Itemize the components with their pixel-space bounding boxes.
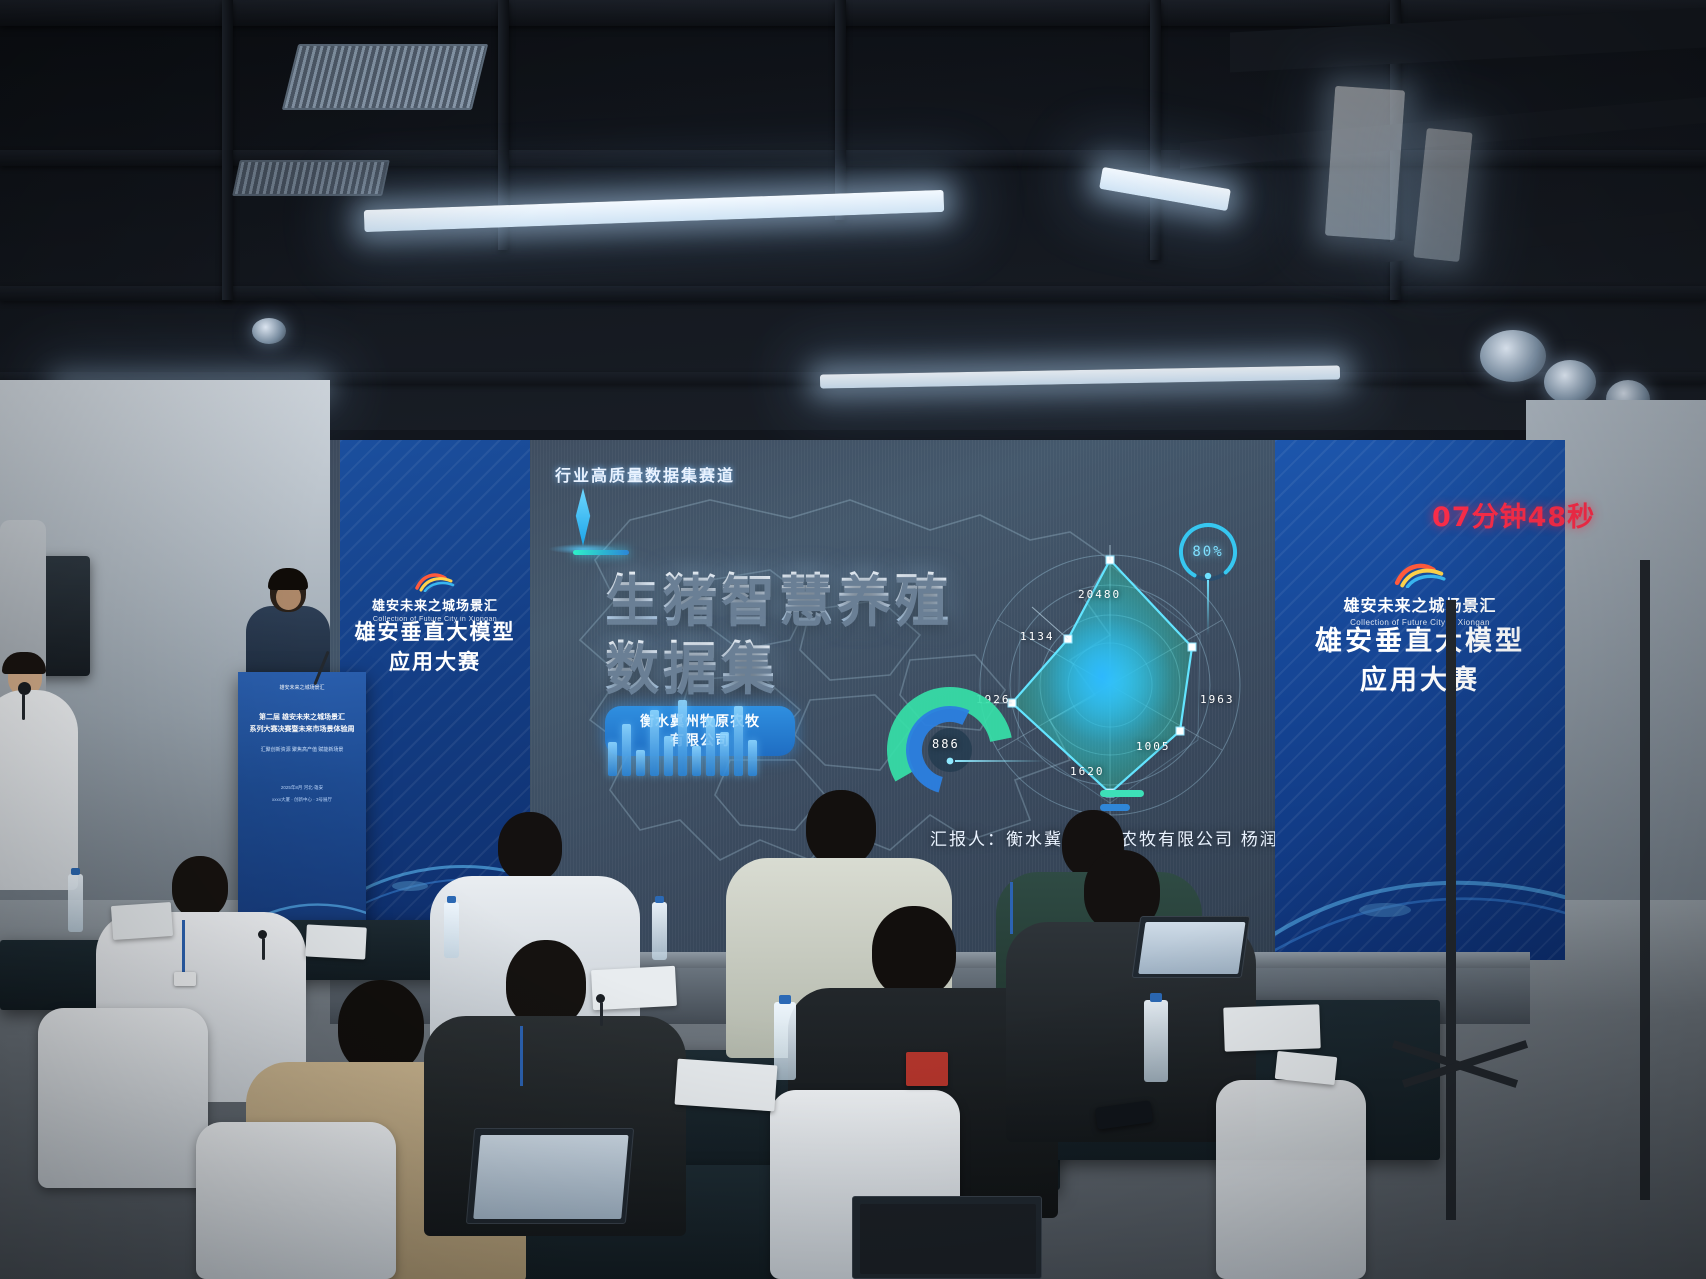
light-stand-pole bbox=[1446, 600, 1456, 1220]
xiongan-logo-icon bbox=[1394, 562, 1446, 588]
ceiling-spotlight bbox=[1544, 360, 1596, 404]
radar-label-right: 1963 bbox=[1200, 693, 1235, 706]
red-folder bbox=[906, 1052, 948, 1086]
mini-bar-chart bbox=[608, 710, 757, 776]
ceiling-beam-vertical bbox=[222, 0, 233, 300]
xiongan-logo-icon bbox=[415, 572, 455, 592]
banner-left-title: 雄安垂直大模型 应用大赛 bbox=[355, 618, 516, 679]
screen-headline-line2: 数据集 bbox=[605, 638, 779, 698]
ceiling-beam-vertical bbox=[835, 0, 846, 220]
person-head bbox=[872, 906, 956, 998]
podium-venue: xxxx大厦 · 创新中心 · 3号展厅 bbox=[272, 796, 332, 804]
document bbox=[591, 966, 677, 1010]
water-bottle bbox=[68, 874, 83, 932]
diamond-underline bbox=[573, 550, 629, 555]
handheld-microphone bbox=[18, 682, 31, 695]
ceiling-spotlight bbox=[252, 318, 286, 344]
laptop-screen bbox=[1138, 922, 1245, 974]
laptop bbox=[852, 1196, 1042, 1279]
water-bottle bbox=[1144, 1000, 1168, 1082]
microphone-stem bbox=[22, 694, 25, 720]
gauge-leader-line bbox=[1207, 580, 1209, 636]
screen-headline-line1: 生猪智慧养殖 bbox=[605, 570, 953, 630]
banner-right-brand-cn: 雄安未来之城场景汇 bbox=[1343, 592, 1496, 616]
ceiling-air-vent bbox=[282, 44, 488, 110]
banner-right-title-line2: 应用大赛 bbox=[1315, 661, 1525, 700]
bottle-cap bbox=[71, 868, 80, 875]
podium-logo: 雄安未来之城场景汇 bbox=[279, 684, 324, 691]
legend-bar-green bbox=[1100, 790, 1144, 797]
document bbox=[111, 902, 173, 940]
banner-left-brand-cn: 雄安未来之城场景汇 bbox=[372, 595, 498, 614]
radar-label-top: 20480 bbox=[1078, 588, 1121, 601]
laptop-screen bbox=[473, 1135, 628, 1219]
light-stand-pole bbox=[1640, 560, 1650, 1200]
microphone-stem bbox=[262, 938, 265, 960]
water-bottle bbox=[444, 902, 459, 958]
podium-subtitle: 系列大赛决赛暨未来市场景体验周 bbox=[250, 724, 355, 735]
legend-bar-blue bbox=[1100, 804, 1130, 811]
banner-right-decor bbox=[1275, 750, 1565, 960]
screen-kicker: 行业高质量数据集赛道 bbox=[555, 462, 735, 486]
banner-right-title-line1: 雄安垂直大模型 bbox=[1315, 622, 1525, 661]
ceiling-air-vent bbox=[232, 160, 390, 196]
banner-left-brand: 雄安未来之城场景汇 Collection of Future City in X… bbox=[372, 572, 498, 623]
bottle-cap bbox=[447, 896, 456, 903]
water-bottle bbox=[774, 1002, 796, 1080]
person-head bbox=[506, 940, 586, 1028]
podium-title: 第二届 雄安未来之城场景汇 bbox=[259, 712, 345, 723]
chair bbox=[196, 1122, 396, 1279]
ceiling-spotlight bbox=[1480, 330, 1546, 382]
screenshot-root: 行业高质量数据集赛道 生猪智慧养殖 数据集 衡水冀州牧原农牧 有限公司 汇报人：… bbox=[0, 0, 1706, 1279]
countdown-timer: 07分钟48秒 bbox=[1432, 495, 1595, 534]
radar-label-lower-right: 1005 bbox=[1136, 740, 1171, 753]
chair bbox=[1216, 1080, 1366, 1279]
document bbox=[1223, 1004, 1320, 1051]
podium-tagline: 汇聚创新资源 聚焦高产值 赋能新场景 bbox=[261, 746, 344, 754]
radar-label-upper-left: 1134 bbox=[1020, 630, 1055, 643]
podium: 雄安未来之城场景汇 第二届 雄安未来之城场景汇 系列大赛决赛暨未来市场景体验周 … bbox=[238, 672, 366, 950]
microphone-stem bbox=[600, 1002, 603, 1026]
lanyard bbox=[182, 920, 185, 974]
donut-leader-line bbox=[955, 760, 1045, 762]
ceiling-beam-vertical bbox=[1150, 0, 1161, 260]
ceiling-beam bbox=[0, 286, 1706, 301]
bottle-cap bbox=[1150, 993, 1162, 1002]
bottle-cap bbox=[779, 995, 791, 1004]
donut-value: 886 bbox=[932, 737, 960, 751]
gauge-value: 80% bbox=[1173, 517, 1243, 587]
water-bottle bbox=[652, 902, 667, 960]
radar-label-bottom: 1620 bbox=[1070, 765, 1105, 778]
person-body bbox=[0, 690, 78, 890]
chair bbox=[38, 1008, 208, 1188]
laptop bbox=[1132, 916, 1251, 978]
banner-left-title-line2: 应用大赛 bbox=[355, 648, 516, 678]
ceiling-light-panel bbox=[1325, 86, 1405, 241]
laptop-screen bbox=[860, 1204, 1036, 1274]
laptop bbox=[466, 1128, 634, 1224]
lanyard bbox=[520, 1026, 523, 1086]
person-head bbox=[338, 980, 424, 1074]
person-head bbox=[806, 790, 876, 866]
badge-card bbox=[174, 972, 196, 986]
banner-left-title-line1: 雄安垂直大模型 bbox=[355, 618, 516, 648]
person-head bbox=[498, 812, 562, 882]
banner-right-brand: 雄安未来之城场景汇 Collection of Future City in X… bbox=[1343, 562, 1496, 627]
document bbox=[675, 1059, 778, 1112]
podium-date: 2025年8月 河北·雄安 bbox=[281, 784, 323, 792]
document bbox=[305, 924, 367, 959]
banner-right-title: 雄安垂直大模型 应用大赛 bbox=[1315, 622, 1525, 700]
bottle-cap bbox=[655, 896, 664, 903]
person-head bbox=[172, 856, 228, 918]
lanyard bbox=[1010, 882, 1013, 934]
